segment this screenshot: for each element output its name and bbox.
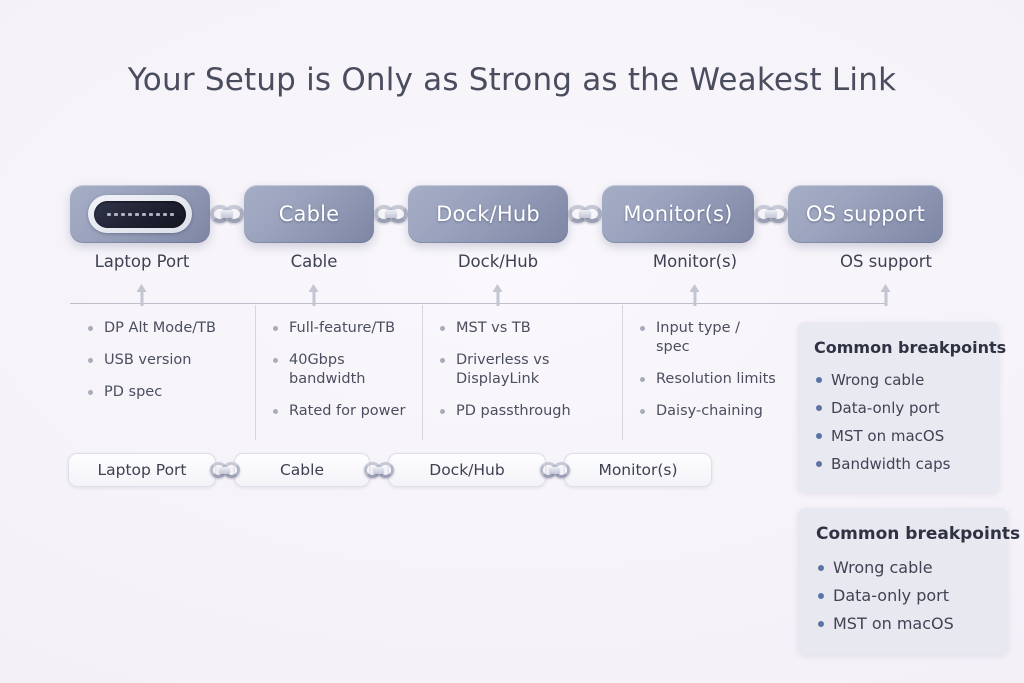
detail-list: MST vs TBDriverless vs DisplayLinkPD pas… [440, 319, 610, 421]
detail-item: Full-feature/TB [273, 319, 410, 338]
chain-node-label: OS support [806, 202, 925, 226]
chain-node-cable[interactable]: Cable [244, 185, 374, 243]
detail-item: 40Gbps bandwidth [273, 351, 410, 389]
detail-columns: DP Alt Mode/TBUSB versionPD specFull-fea… [70, 305, 790, 440]
pill-label: Dock/Hub [429, 461, 504, 479]
laptop-port-details: DP Alt Mode/TBUSB versionPD spec [70, 305, 255, 440]
diagram-canvas: Your Setup is Only as Strong as the Weak… [0, 0, 1024, 683]
pill-cable[interactable]: Cable [234, 453, 370, 487]
usb-c-port-icon [88, 195, 192, 233]
breakpoint-item: Bandwidth caps [814, 450, 985, 478]
chain-node-label: Cable [279, 202, 340, 226]
panel-list: Wrong cableData-only portMST on macOS [816, 554, 994, 638]
breakpoint-item: MST on macOS [816, 610, 994, 638]
dock-hub-details: MST vs TBDriverless vs DisplayLinkPD pas… [422, 305, 622, 440]
connector-rule [70, 303, 887, 304]
arrow-up-icon [137, 284, 148, 306]
chain-link-icon [754, 203, 788, 225]
caption-cable: Cable [291, 252, 338, 271]
arrow-up-icon [493, 284, 504, 306]
breakpoint-item: Wrong cable [816, 554, 994, 582]
detail-item: Driverless vs DisplayLink [440, 351, 610, 389]
bottom-chain-row: Laptop PortCableDock/HubMonitor(s) [68, 453, 712, 487]
pill-dock-hub[interactable]: Dock/Hub [388, 453, 546, 487]
common-breakpoints-panel-primary: Common breakpoints Wrong cableData-only … [798, 322, 999, 492]
cable-details: Full-feature/TB40Gbps bandwidthRated for… [255, 305, 422, 440]
panel-list: Wrong cableData-only portMST on macOSBan… [814, 366, 985, 478]
pill-label: Cable [280, 461, 324, 479]
breakpoint-item: Data-only port [816, 582, 994, 610]
pill-label: Laptop Port [97, 461, 186, 479]
chain-link-icon [568, 203, 602, 225]
detail-item: Input type / spec [640, 319, 778, 357]
caption-dock-hub: Dock/Hub [458, 252, 538, 271]
detail-item: MST vs TB [440, 319, 610, 338]
chain-link-icon [540, 461, 570, 480]
chain-node-laptop-port[interactable] [70, 185, 210, 243]
pill-monitors[interactable]: Monitor(s) [564, 453, 712, 487]
caption-laptop-port: Laptop Port [95, 252, 190, 271]
caption-os-support: OS support [840, 252, 932, 271]
chain-link-icon [364, 461, 394, 480]
caption-monitors: Monitor(s) [653, 252, 737, 271]
detail-list: Full-feature/TB40Gbps bandwidthRated for… [273, 319, 410, 421]
chain-node-label: Monitor(s) [623, 202, 732, 226]
chain-link-icon [210, 461, 240, 480]
common-breakpoints-panel-secondary: Common breakpoints Wrong cableData-only … [798, 508, 1008, 654]
arrow-up-icon [690, 284, 701, 306]
breakpoint-item: MST on macOS [814, 422, 985, 450]
detail-list: DP Alt Mode/TBUSB versionPD spec [88, 319, 243, 402]
breakpoint-item: Data-only port [814, 394, 985, 422]
node-captions: Laptop PortCableDock/HubMonitor(s)OS sup… [70, 252, 970, 276]
pill-laptop-port[interactable]: Laptop Port [68, 453, 216, 487]
page-title: Your Setup is Only as Strong as the Weak… [0, 62, 1024, 98]
arrow-up-icon [309, 284, 320, 306]
panel-heading: Common breakpoints [814, 338, 985, 357]
chain-link-icon [210, 203, 244, 225]
monitors-details: Input type / specResolution limitsDaisy-… [622, 305, 790, 440]
detail-item: PD spec [88, 383, 243, 402]
breakpoint-item: Wrong cable [814, 366, 985, 394]
detail-item: USB version [88, 351, 243, 370]
chain-node-os-support[interactable]: OS support [788, 185, 943, 243]
detail-item: Rated for power [273, 402, 410, 421]
detail-item: Resolution limits [640, 370, 778, 389]
chain-node-dock-hub[interactable]: Dock/Hub [408, 185, 568, 243]
detail-item: PD passthrough [440, 402, 610, 421]
chain-node-monitors[interactable]: Monitor(s) [602, 185, 754, 243]
panel-heading: Common breakpoints [816, 524, 994, 544]
chain-node-label: Dock/Hub [436, 202, 540, 226]
detail-item: Daisy-chaining [640, 402, 778, 421]
chain-link-icon [374, 203, 408, 225]
pill-label: Monitor(s) [598, 461, 677, 479]
chain-row: CableDock/HubMonitor(s)OS support [70, 185, 970, 243]
detail-item: DP Alt Mode/TB [88, 319, 243, 338]
detail-list: Input type / specResolution limitsDaisy-… [640, 319, 778, 421]
arrow-up-icon [881, 284, 892, 306]
